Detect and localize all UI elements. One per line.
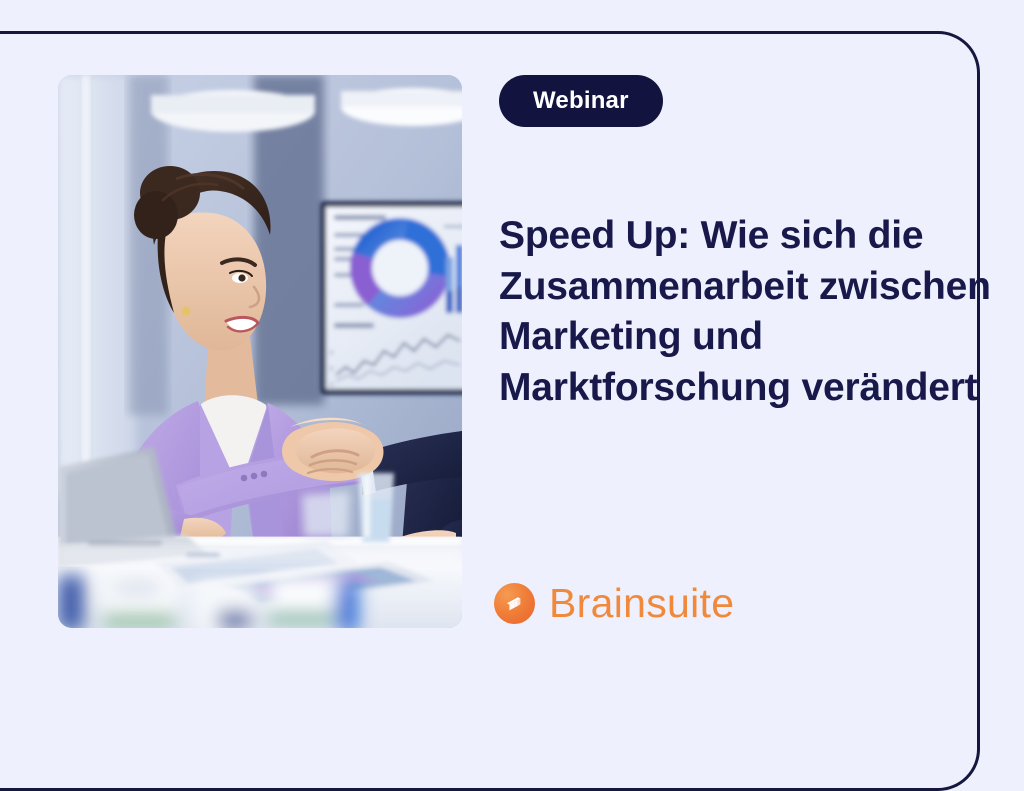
brand-lockup: Brainsuite xyxy=(494,583,734,624)
brand-name: Brainsuite xyxy=(549,583,734,624)
stacked-layers-icon xyxy=(494,583,535,624)
webinar-badge: Webinar xyxy=(499,75,663,127)
promo-banner: Webinar Speed Up: Wie sich die Zusammena… xyxy=(0,0,1024,683)
hero-photo xyxy=(58,75,462,628)
content-column: Webinar Speed Up: Wie sich die Zusammena… xyxy=(499,75,999,414)
hero-photo-illustration xyxy=(58,75,462,628)
page-title: Speed Up: Wie sich die Zusammenarbeit zw… xyxy=(499,211,995,414)
